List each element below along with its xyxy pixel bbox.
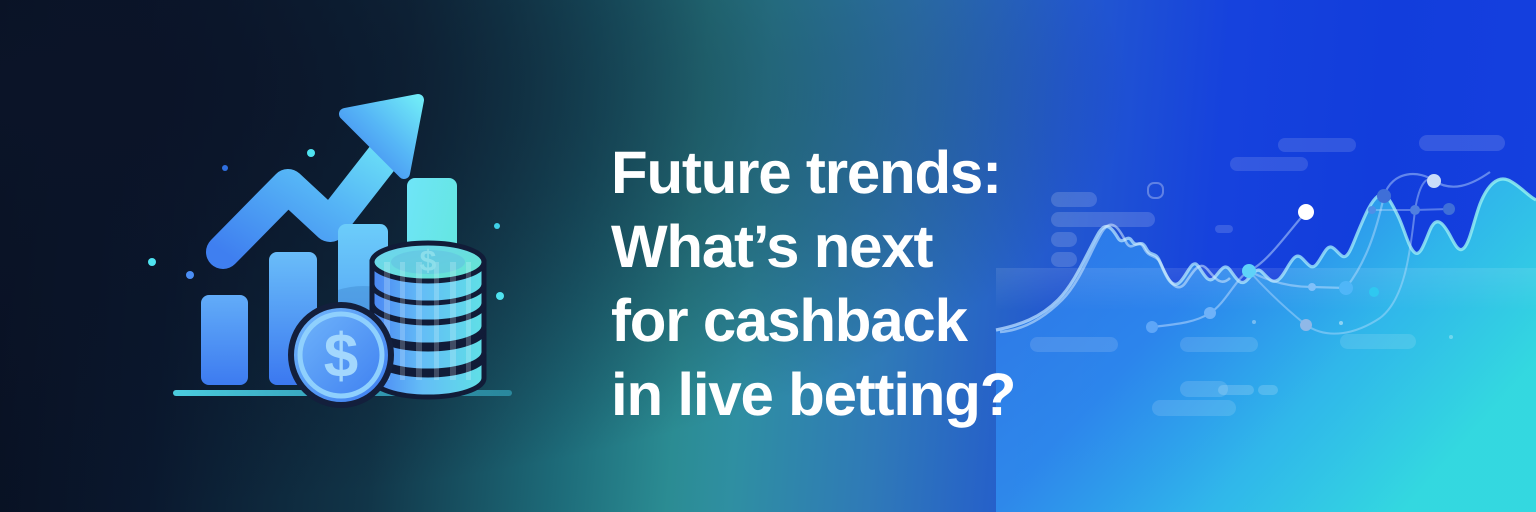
pill-13: [1218, 385, 1254, 395]
pill-8: [1215, 225, 1233, 233]
pill-6: [1278, 138, 1356, 152]
promo-banner: $ $: [0, 0, 1536, 512]
pill-7: [1419, 135, 1505, 151]
page-title: Future trends: What’s next for cashback …: [611, 136, 1131, 432]
pill-15: [1152, 400, 1236, 416]
pill-11: [1340, 334, 1416, 349]
pill-10: [1180, 337, 1258, 352]
pill-5: [1230, 157, 1308, 171]
pill-14: [1258, 385, 1278, 395]
rounded-square-outline-icon: [1147, 182, 1164, 199]
